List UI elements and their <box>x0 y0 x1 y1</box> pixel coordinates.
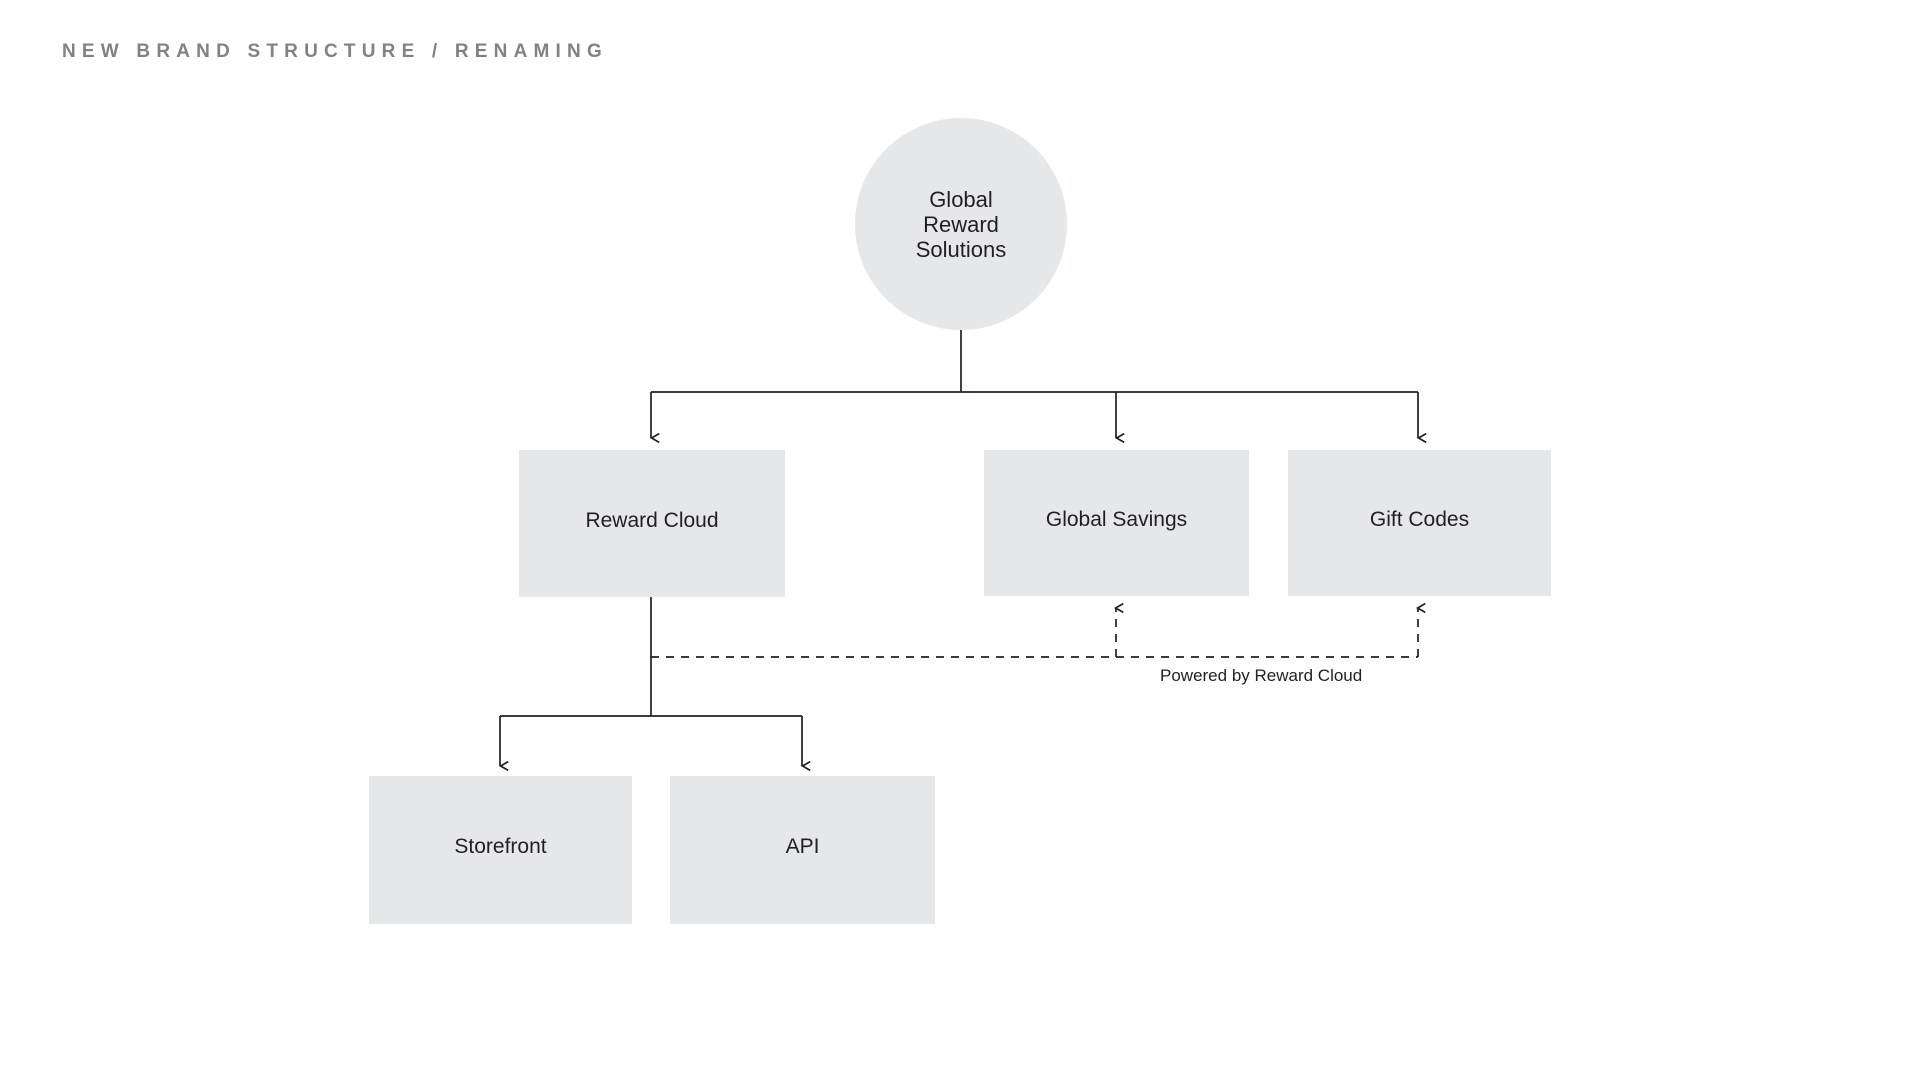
edge-label-powered-by-reward-cloud: Powered by Reward Cloud <box>1160 667 1362 684</box>
node-api[interactable]: API <box>670 776 935 924</box>
node-global-reward-solutions[interactable]: Global Reward Solutions <box>855 118 1067 330</box>
node-label: Global Reward Solutions <box>916 187 1007 262</box>
node-global-savings[interactable]: Global Savings <box>984 450 1249 596</box>
node-storefront[interactable]: Storefront <box>369 776 632 924</box>
node-reward-cloud[interactable]: Reward Cloud <box>519 450 785 597</box>
diagram-canvas: NEW BRAND STRUCTURE / RENAMING <box>0 0 1920 1080</box>
node-gift-codes[interactable]: Gift Codes <box>1288 450 1551 596</box>
node-label: Gift Codes <box>1370 507 1469 533</box>
node-label: Reward Cloud <box>585 508 718 534</box>
node-label: Storefront <box>454 834 546 860</box>
node-label: API <box>786 834 820 860</box>
page-title: NEW BRAND STRUCTURE / RENAMING <box>62 42 608 61</box>
node-label: Global Savings <box>1046 507 1187 533</box>
